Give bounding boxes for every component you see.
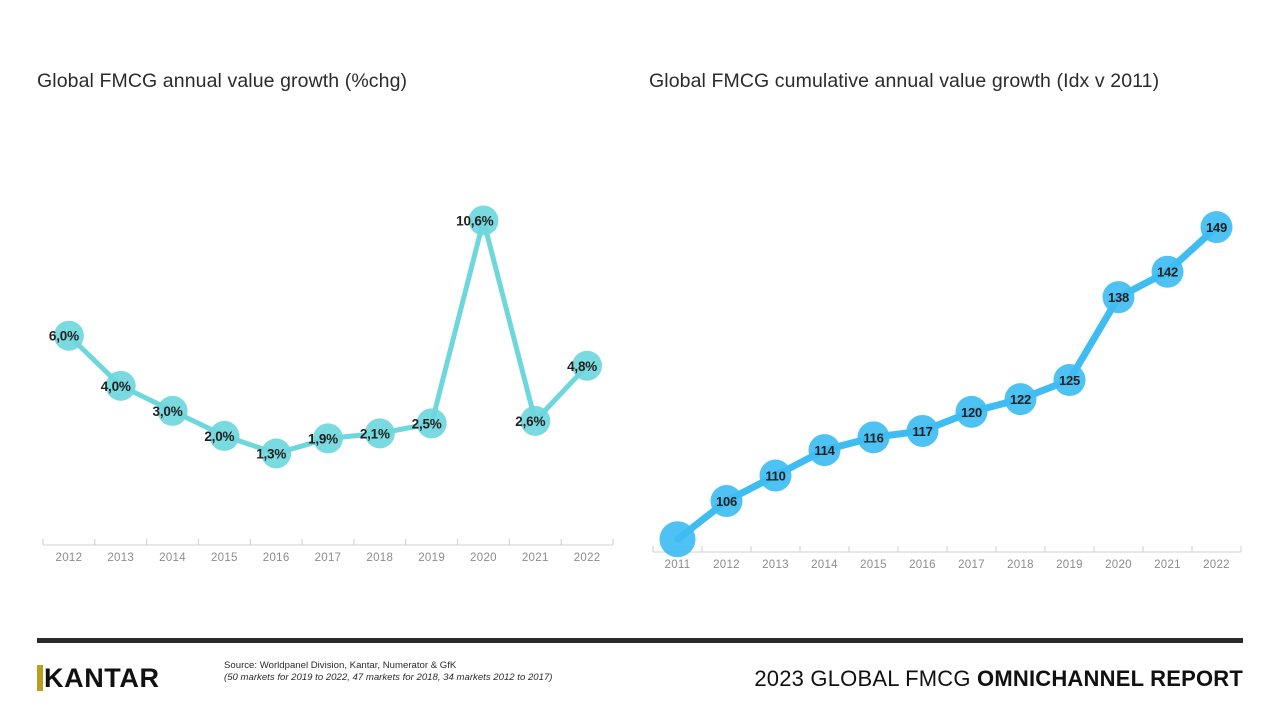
cumulative-value-growth-chart: 2011201220132014201520162017201820192020… (649, 120, 1249, 590)
svg-text:2022: 2022 (1203, 559, 1230, 571)
data-point-label: 122 (1010, 392, 1031, 407)
data-point-label: 125 (1059, 373, 1080, 388)
data-point-label: 117 (912, 424, 932, 439)
svg-text:2016: 2016 (263, 552, 290, 564)
kantar-logo-bar (37, 665, 43, 691)
svg-text:2015: 2015 (860, 559, 887, 571)
kantar-logo: KANTAR (37, 664, 160, 692)
svg-text:2013: 2013 (107, 552, 134, 564)
footer-divider (37, 638, 1243, 643)
data-point-label: 3,0% (153, 404, 183, 419)
data-point-label: 120 (961, 405, 982, 420)
data-point-label: 138 (1108, 290, 1129, 305)
svg-text:2014: 2014 (811, 559, 838, 571)
svg-text:2019: 2019 (1056, 559, 1083, 571)
kantar-logo-wordmark: KANTAR (44, 665, 160, 691)
svg-text:2021: 2021 (1154, 559, 1181, 571)
svg-text:2018: 2018 (1007, 559, 1034, 571)
svg-text:2021: 2021 (522, 552, 549, 564)
svg-text:2015: 2015 (211, 552, 238, 564)
data-point-label: 106 (716, 494, 737, 509)
right-chart-panel: 2011201220132014201520162017201820192020… (649, 120, 1249, 590)
data-point-label: 149 (1206, 220, 1227, 235)
data-point-label: 114 (814, 443, 835, 458)
svg-text:2020: 2020 (1105, 559, 1132, 571)
data-point-label: 2,6% (515, 414, 545, 429)
data-point-label: 142 (1157, 265, 1178, 280)
data-point-label: 4,8% (567, 359, 597, 374)
svg-text:2018: 2018 (366, 552, 393, 564)
right-chart-title: Global FMCG cumulative annual value grow… (649, 70, 1159, 93)
report-label: 2023 GLOBAL FMCG OMNICHANNEL REPORT (754, 666, 1243, 692)
report-label-bold: OMNICHANNEL REPORT (977, 666, 1243, 691)
svg-text:2019: 2019 (418, 552, 445, 564)
source-note: Source: Worldpanel Division, Kantar, Num… (224, 660, 554, 685)
data-point-label: 1,9% (308, 431, 338, 446)
data-point-marker (660, 521, 696, 557)
data-point-label: 116 (863, 430, 883, 445)
data-point-label: 110 (765, 469, 785, 484)
left-chart-panel: 2012201320142015201620172018201920202021… (37, 120, 617, 590)
data-point-label: 6,0% (49, 329, 79, 344)
annual-value-growth-chart: 2012201320142015201620172018201920202021… (37, 120, 617, 590)
svg-text:2012: 2012 (56, 552, 83, 564)
svg-text:2017: 2017 (958, 559, 985, 571)
svg-text:2013: 2013 (762, 559, 789, 571)
data-point-label: 2,0% (204, 429, 234, 444)
slide-canvas: Global FMCG annual value growth (%chg) G… (0, 0, 1280, 720)
data-point-label: 4,0% (101, 379, 131, 394)
left-chart-title: Global FMCG annual value growth (%chg) (37, 70, 407, 93)
data-point-label: 2,5% (412, 416, 442, 431)
source-note-line-2: (50 markets for 2019 to 2022, 47 markets… (224, 672, 554, 684)
report-label-light: 2023 GLOBAL FMCG (754, 666, 977, 691)
svg-text:2011: 2011 (665, 559, 691, 571)
svg-text:2016: 2016 (909, 559, 936, 571)
data-point-label: 1,3% (256, 446, 286, 461)
data-point-label: 10,6% (456, 214, 493, 229)
data-point-label: 2,1% (360, 426, 390, 441)
svg-text:2022: 2022 (574, 552, 601, 564)
svg-text:2012: 2012 (713, 559, 740, 571)
svg-text:2020: 2020 (470, 552, 497, 564)
svg-text:2017: 2017 (315, 552, 342, 564)
source-note-line-1: Source: Worldpanel Division, Kantar, Num… (224, 660, 554, 672)
svg-text:2014: 2014 (159, 552, 186, 564)
